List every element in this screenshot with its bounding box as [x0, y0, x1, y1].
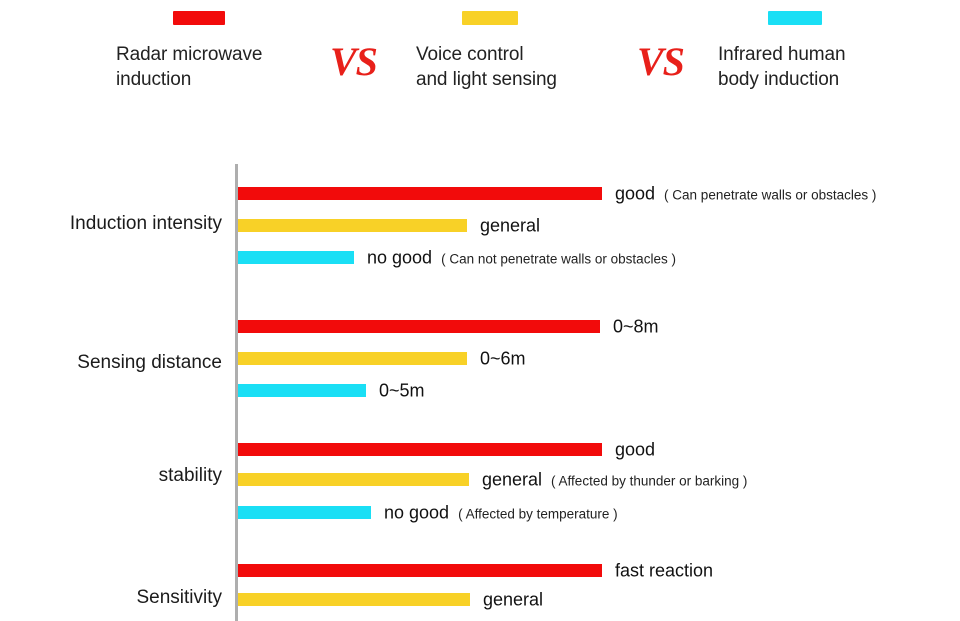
bar-row: 0~8m: [238, 320, 960, 333]
bar-row: no good( Can not penetrate walls or obst…: [238, 251, 774, 264]
bar-annotation: good: [615, 439, 655, 460]
bar-annotation: general: [483, 589, 543, 610]
bar-cyan: [238, 506, 371, 519]
bar-annotation: no good( Affected by temperature ): [384, 502, 618, 523]
bar-row: good( Can penetrate walls or obstacles ): [238, 187, 960, 200]
bar-annotation-main: general: [482, 469, 542, 489]
bar-annotation-main: good: [615, 439, 655, 459]
bar-annotation-main: general: [480, 215, 540, 235]
bar-annotation: no good( Can not penetrate walls or obst…: [367, 247, 676, 268]
bar-cyan: [238, 384, 366, 397]
bar-annotation: fast reaction: [615, 560, 713, 581]
bar-annotation: general: [480, 215, 540, 236]
bar-red: [238, 320, 600, 333]
bar-annotation-main: fast reaction: [615, 560, 713, 580]
comparison-bar-chart: Induction intensitygood( Can penetrate w…: [0, 0, 960, 621]
bar-row: general: [238, 593, 890, 606]
bar-yellow: [238, 473, 469, 486]
bar-annotation: 0~8m: [613, 316, 659, 337]
bar-row: fast reaction: [238, 564, 960, 577]
category-label: Sensing distance: [77, 352, 222, 374]
bar-annotation: good( Can penetrate walls or obstacles ): [615, 183, 876, 204]
bar-row: good: [238, 443, 960, 456]
bar-row: no good( Affected by temperature ): [238, 506, 791, 519]
bar-annotation-main: no good: [367, 247, 432, 267]
bar-annotation-note: ( Affected by thunder or barking ): [551, 473, 747, 488]
bar-yellow: [238, 219, 467, 232]
bar-annotation-note: ( Can not penetrate walls or obstacles ): [441, 251, 676, 266]
bar-annotation-note: ( Affected by temperature ): [458, 506, 618, 521]
bar-annotation-main: 0~8m: [613, 316, 659, 336]
bar-row: 0~6m: [238, 352, 887, 365]
bar-red: [238, 564, 602, 577]
bar-red: [238, 187, 602, 200]
bar-annotation: 0~6m: [480, 348, 526, 369]
bar-row: 0~5m: [238, 384, 786, 397]
bar-annotation-main: 0~5m: [379, 380, 425, 400]
bar-row: general: [238, 219, 887, 232]
bar-annotation-main: 0~6m: [480, 348, 526, 368]
bar-row: general( Affected by thunder or barking …: [238, 473, 889, 486]
category-label: Induction intensity: [70, 213, 222, 235]
bar-yellow: [238, 352, 467, 365]
category-label: Sensitivity: [136, 587, 222, 609]
bar-annotation-main: general: [483, 589, 543, 609]
bar-yellow: [238, 593, 470, 606]
bar-annotation-main: no good: [384, 502, 449, 522]
bar-annotation-main: good: [615, 183, 655, 203]
bar-cyan: [238, 251, 354, 264]
bar-annotation: 0~5m: [379, 380, 425, 401]
bar-annotation: general( Affected by thunder or barking …: [482, 469, 747, 490]
category-label: stability: [159, 465, 222, 487]
infographic-root: Radar microwave induction VS Voice contr…: [0, 0, 960, 621]
bar-annotation-note: ( Can penetrate walls or obstacles ): [664, 187, 876, 202]
bar-red: [238, 443, 602, 456]
